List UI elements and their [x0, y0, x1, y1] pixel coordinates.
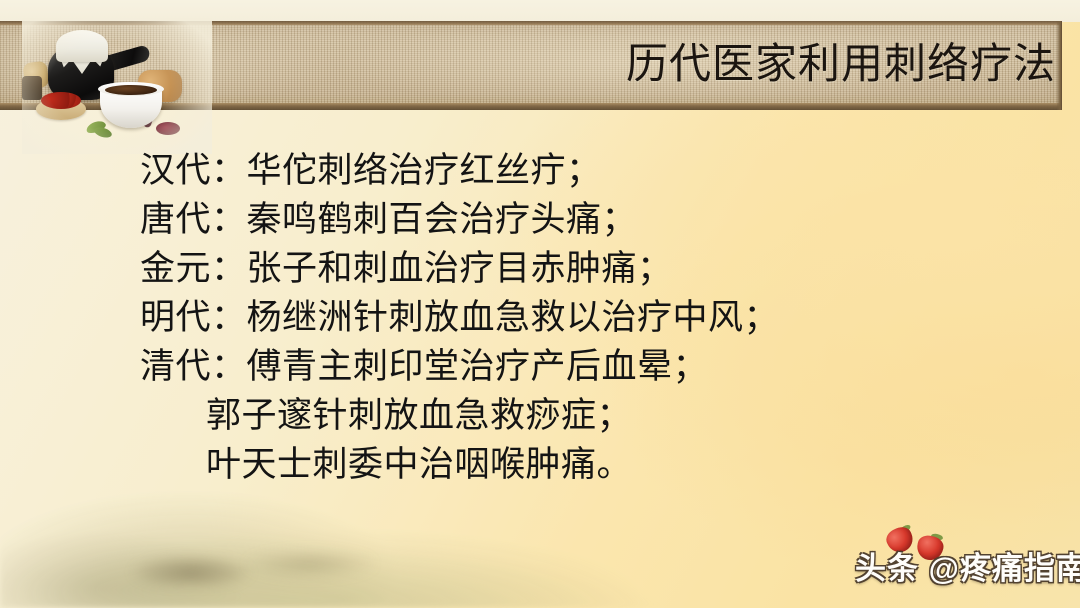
slide-canvas: 历代医家利用刺络疗法 汉代：华佗刺络治疗红丝疔； 唐代：秦鸣鹤刺百会治疗头痛； …: [0, 0, 1080, 608]
goji-berries-icon: [41, 92, 81, 109]
content-line: 金元：张子和刺血治疗目赤肿痛；: [140, 244, 1020, 293]
content-line: 唐代：秦鸣鹤刺百会治疗头痛；: [140, 195, 1020, 244]
herb-block-icon: [22, 76, 42, 100]
watermark: 头条 @疼痛指南: [855, 526, 1070, 588]
content-line: 明代：杨继洲针刺放血急救以治疗中风；: [140, 293, 1020, 342]
pot-cloth-icon: [56, 30, 108, 62]
background-hill-right: [215, 540, 405, 580]
banner-right-edge: [1057, 21, 1062, 110]
page-title: 历代医家利用刺络疗法: [626, 36, 1056, 92]
tea-liquid-icon: [105, 85, 157, 95]
content-list: 汉代：华佗刺络治疗红丝疔； 唐代：秦鸣鹤刺百会治疗头痛； 金元：张子和刺血治疗目…: [140, 146, 1020, 489]
watermark-text: 头条 @疼痛指南: [855, 550, 1080, 588]
content-line: 郭子邃针刺放血急救痧症；: [140, 391, 1020, 440]
content-line: 汉代：华佗刺络治疗红丝疔；: [140, 146, 1020, 195]
content-line: 叶天士刺委中治咽喉肿痛。: [140, 440, 1020, 489]
spoon-bowl-icon: [156, 122, 180, 135]
content-line: 清代：傅青主刺印堂治疗产后血晕；: [140, 342, 1020, 391]
tcm-decoction-photo: [22, 18, 192, 136]
